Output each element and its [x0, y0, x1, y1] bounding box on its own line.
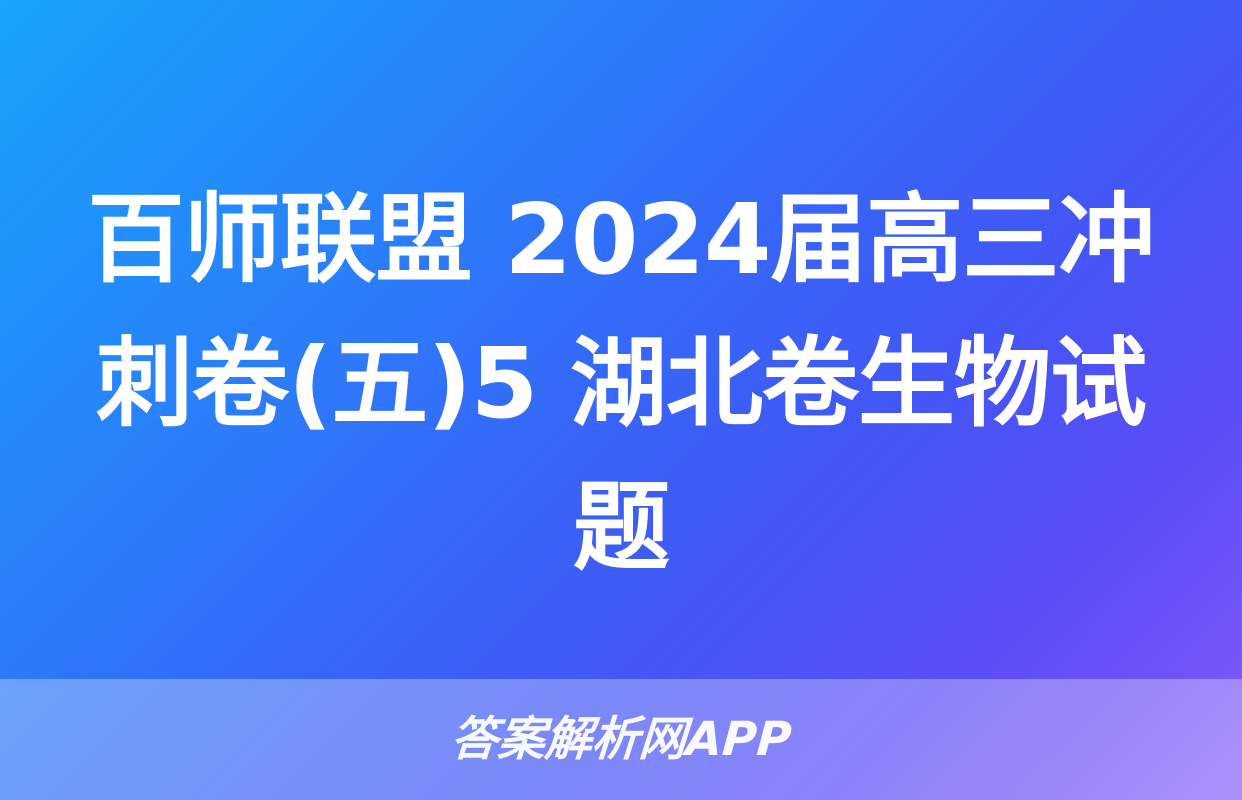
share-card: 百师联盟 2024届高三冲刺卷(五)5 湖北卷生物试题 答案解析网APP [0, 0, 1242, 800]
footer-watermark-band: 答案解析网APP [0, 679, 1242, 800]
app-watermark-label: 答案解析网APP [449, 716, 793, 763]
page-title: 百师联盟 2024届高三冲刺卷(五)5 湖北卷生物试题 [78, 168, 1164, 600]
headline-container: 百师联盟 2024届高三冲刺卷(五)5 湖北卷生物试题 [0, 168, 1242, 600]
